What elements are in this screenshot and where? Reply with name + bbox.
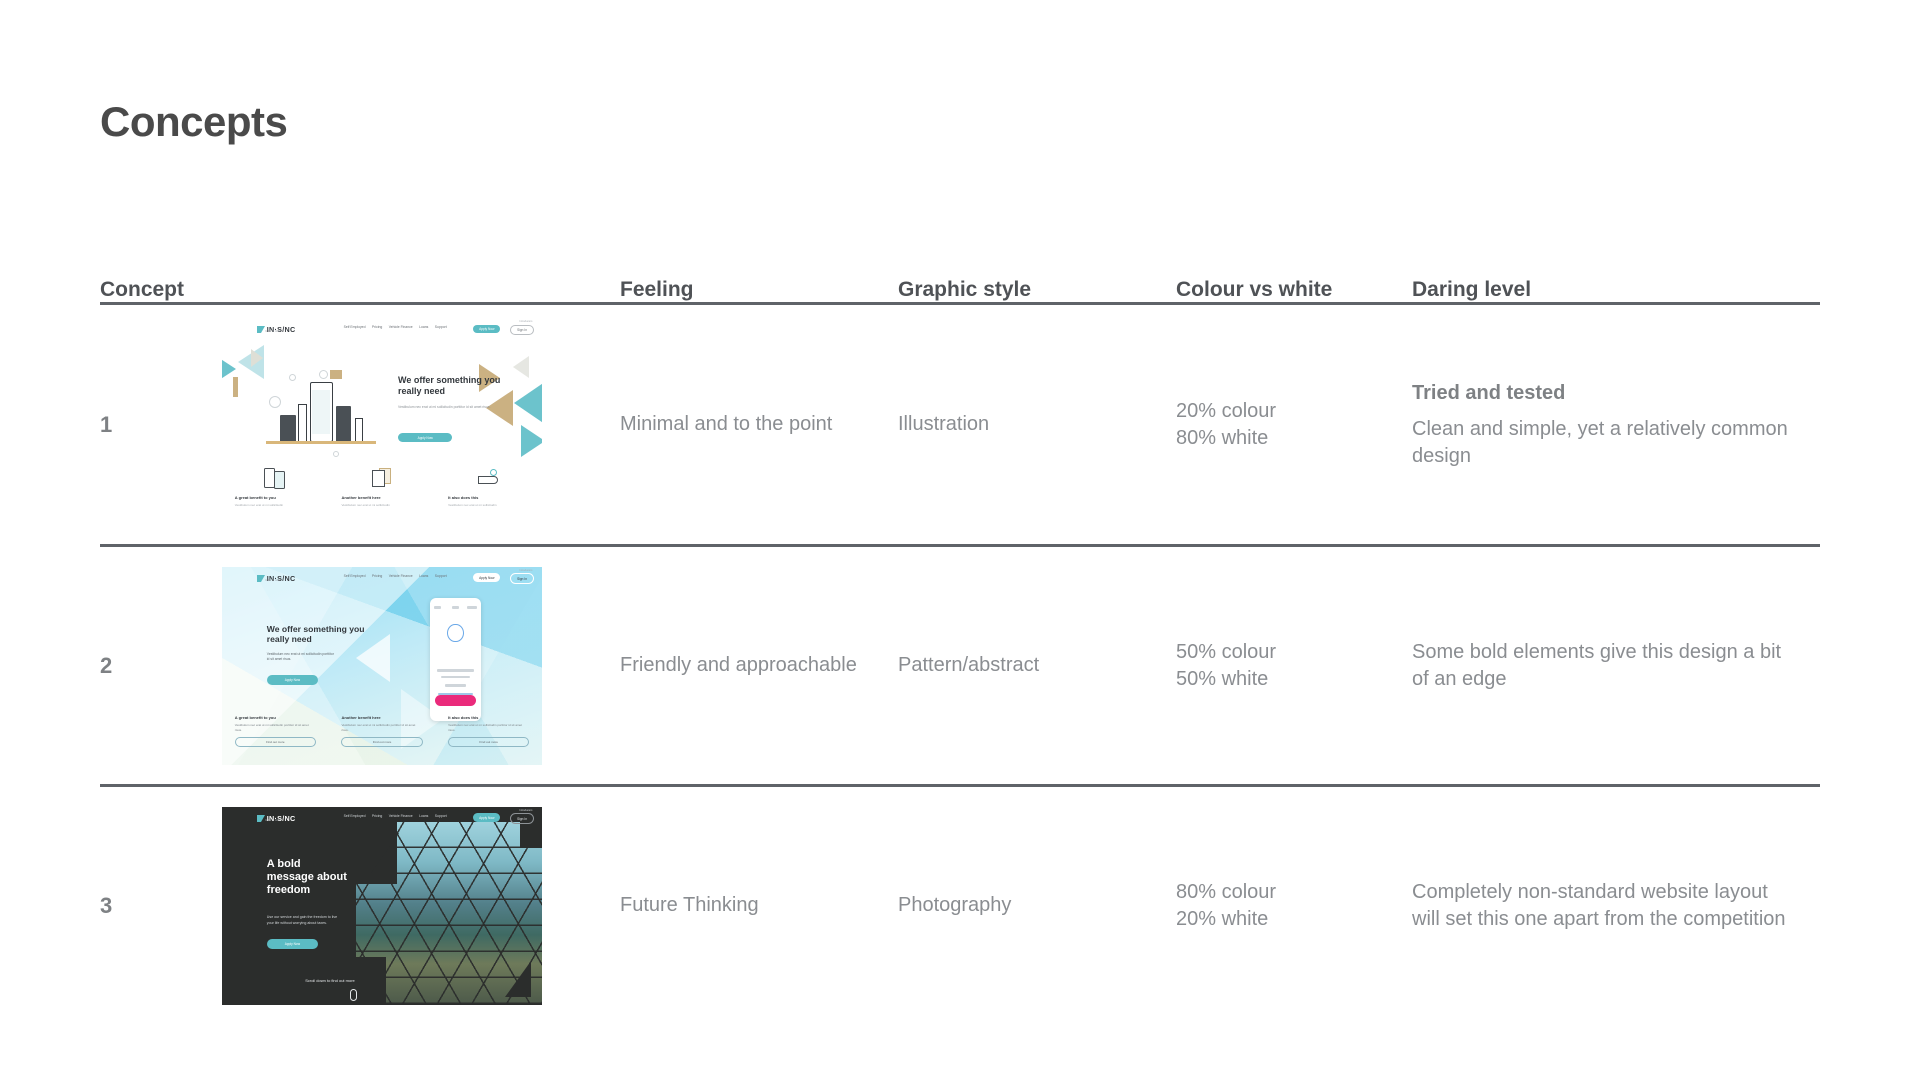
mockup-benefit-cards: A great benefit to you Vestibulum nec er… <box>222 468 542 508</box>
benefit-card[interactable]: Another benefit here Vestibulum nec erat… <box>329 715 436 747</box>
colour-vs-white-value: 20% colour 80% white <box>1176 398 1412 451</box>
mockup-nav-item[interactable]: Pricing <box>372 814 382 818</box>
benefit-card-link[interactable]: Find out more <box>235 737 316 747</box>
mockup-hero-heading: A bold message about freedom <box>267 858 350 898</box>
daring-level-body: Clean and simple, yet a relatively commo… <box>1412 416 1796 470</box>
mockup-nav-item[interactable]: Vehicle Finance <box>389 814 413 818</box>
mockup-nav-item[interactable]: Self Employed <box>344 814 366 818</box>
colour-pct-line: 50% colour <box>1176 639 1388 665</box>
logo-triangle-icon <box>257 815 265 822</box>
mockup-nav-item[interactable]: Loans <box>419 325 428 329</box>
phone-mockup <box>430 598 481 721</box>
mockup-logo-subtitle: GROUP <box>265 329 281 333</box>
mockup-nav-item[interactable]: Self Employed <box>344 574 366 578</box>
mockup-illustration <box>264 369 379 459</box>
concept-1-mockup[interactable]: Introducers IN·S/NC GROUP Self Employed … <box>222 317 542 532</box>
benefit-card[interactable]: Another benefit here Vestibulum nec erat… <box>329 468 436 508</box>
mockup-hero-body: Vestibulum nec erat ut mi sollicitudin p… <box>267 652 337 662</box>
benefit-card-heading: It also does this <box>448 715 529 720</box>
table-row: 1 <box>100 305 1820 544</box>
concept-2-mockup[interactable]: Introducers IN·S/NC GROUP Self Employed … <box>222 567 542 765</box>
mockup-navbar[interactable]: Introducers IN·S/NC GROUP Self Employed … <box>222 317 542 347</box>
building-icon <box>280 415 296 442</box>
mockup-introducers-label[interactable]: Introducers <box>519 569 532 572</box>
building-icon <box>336 406 351 442</box>
table-row: 2 Introducers IN·S/NC GROUP Self <box>100 547 1820 784</box>
mockup-sign-in-button[interactable]: Sign In <box>510 573 534 583</box>
graphic-style-value: Illustration <box>898 411 1176 437</box>
feeling-value: Future Thinking <box>620 892 898 918</box>
daring-level-value: Tried and tested Clean and simple, yet a… <box>1412 380 1820 470</box>
flag-icon <box>330 370 342 378</box>
mockup-hero-heading: We offer something you really need <box>267 624 376 645</box>
column-header-colour-vs-white: Colour vs white <box>1176 278 1412 302</box>
concept-3-mockup[interactable]: Introducers IN·S/NC GROUP Self Employed … <box>222 807 542 1005</box>
concepts-table: Concept Feeling Graphic style Colour vs … <box>100 250 1820 1024</box>
daring-level-body: Some bold elements give this design a bi… <box>1412 639 1796 693</box>
scroll-hint-label: Scroll down to find out more <box>305 978 355 983</box>
bar-decor-icon <box>233 377 238 397</box>
mockup-nav-item[interactable]: Pricing <box>372 574 382 578</box>
benefit-card-heading: It also does this <box>448 495 529 500</box>
benefit-card-link[interactable]: Find out more <box>341 737 422 747</box>
mockup-nav-item[interactable]: Support <box>435 325 447 329</box>
mockup-introducers-label[interactable]: Introducers <box>519 809 532 812</box>
column-header-graphic-style: Graphic style <box>898 278 1176 302</box>
shelf-line <box>266 441 377 444</box>
mockup-apply-now-button[interactable]: Apply Now <box>473 813 500 821</box>
mockup-logo-subtitle: GROUP <box>265 578 281 582</box>
mockup-nav-item[interactable]: Support <box>435 814 447 818</box>
benefit-card[interactable]: A great benefit to you Vestibulum nec er… <box>222 715 329 747</box>
triangle-decor-icon <box>521 425 542 457</box>
logo-triangle-icon <box>257 575 265 582</box>
mouse-scroll-icon <box>350 989 357 1001</box>
benefit-card[interactable]: It also does this Vestibulum nec erat ut… <box>435 715 542 747</box>
white-pct-line: 80% white <box>1176 425 1388 451</box>
colour-vs-white-value: 80% colour 20% white <box>1176 879 1412 932</box>
graphic-style-value: Photography <box>898 892 1176 918</box>
table-row: 3 <box>100 787 1820 1024</box>
circle-decor-icon <box>319 370 328 379</box>
mockup-apply-now-button[interactable]: Apply Now <box>473 573 500 581</box>
graphic-style-value: Pattern/abstract <box>898 652 1176 678</box>
triangle-photo-mosaic <box>356 822 542 1004</box>
row-number: 1 <box>100 410 222 439</box>
benefit-card-heading: Another benefit here <box>341 715 422 720</box>
phone-cta-button <box>435 695 476 706</box>
daring-level-value: Completely non-standard website layout w… <box>1412 879 1820 933</box>
building-icon <box>298 404 307 442</box>
daring-level-value: Some bold elements give this design a bi… <box>1412 639 1820 693</box>
mockup-benefit-cards: A great benefit to you Vestibulum nec er… <box>222 715 542 747</box>
benefit-card-body: Vestibulum nec erat ut mi sollicitudin p… <box>235 723 316 732</box>
mockup-hero-heading: We offer something you really need <box>398 375 526 397</box>
feeling-value: Minimal and to the point <box>620 411 898 437</box>
mockup-nav-item[interactable]: Support <box>435 574 447 578</box>
phone-screen <box>312 390 330 434</box>
benefit-card-link[interactable]: Find out more <box>448 737 529 747</box>
daring-level-body: Completely non-standard website layout w… <box>1412 879 1796 933</box>
progress-ring-icon <box>447 624 463 642</box>
benefit-card-heading: A great benefit to you <box>235 715 316 720</box>
mockup-apply-now-button[interactable]: Apply Now <box>473 325 500 333</box>
circle-decor-icon <box>289 374 296 381</box>
slide-canvas: Concepts Concept Feeling Graphic style C… <box>0 0 1920 1080</box>
mockup-introducers-label[interactable]: Introducers <box>519 320 532 323</box>
benefit-card-body: Vestibulum nec erat ut mi sollicitudin p… <box>341 723 422 732</box>
benefit-card-heading: Another benefit here <box>341 495 422 500</box>
colour-pct-line: 20% colour <box>1176 398 1388 424</box>
concept-thumbnail-cell[interactable]: Introducers IN·S/NC GROUP Self Employed … <box>222 807 620 1005</box>
benefit-card-body: Vestibulum nec erat ut mi sollicitudin <box>235 503 316 508</box>
mockup-hero-cta-button[interactable]: Apply Now <box>267 675 318 684</box>
mockup-hero-body: Use our service and gain the freedom to … <box>267 915 337 925</box>
feeling-value: Friendly and approachable <box>620 652 898 678</box>
concept-thumbnail-cell[interactable]: Introducers IN·S/NC GROUP Self Employed … <box>222 567 620 765</box>
mockup-nav-item[interactable]: Self Employed <box>344 325 366 329</box>
logo-triangle-icon <box>257 326 265 333</box>
colour-pct-line: 80% colour <box>1176 879 1388 905</box>
building-icon <box>355 418 363 441</box>
row-number: 2 <box>100 651 222 680</box>
colour-vs-white-value: 50% colour 50% white <box>1176 639 1412 692</box>
mockup-sign-in-button[interactable]: Sign In <box>510 813 534 823</box>
column-header-concept: Concept <box>100 278 222 302</box>
mockup-nav-item[interactable]: Vehicle Finance <box>389 325 413 329</box>
mockup-nav-item[interactable]: Pricing <box>372 325 382 329</box>
mockup-nav-item[interactable]: Loans <box>419 574 428 578</box>
circle-decor-icon <box>269 396 281 408</box>
mockup-nav-item[interactable]: Loans <box>419 814 428 818</box>
mockup-hero-cta-button[interactable]: Apply Now <box>267 939 318 949</box>
benefit-card[interactable]: A great benefit to you Vestibulum nec er… <box>222 468 329 508</box>
white-pct-line: 50% white <box>1176 666 1388 692</box>
column-header-feeling: Feeling <box>620 278 898 302</box>
concept-thumbnail-cell[interactable]: Introducers IN·S/NC GROUP Self Employed … <box>222 317 620 532</box>
mockup-hero-body: Vestibulum nec erat ut mi sollicitudin p… <box>398 405 494 410</box>
benefit-card-body: Vestibulum nec erat ut mi sollicitudin p… <box>448 723 529 732</box>
mockup-sign-in-button[interactable]: Sign In <box>510 325 534 335</box>
calculator-icon <box>369 468 395 490</box>
table-header-row: Concept Feeling Graphic style Colour vs … <box>100 250 1820 302</box>
benefit-card-body: Vestibulum nec erat ut mi sollicitudin <box>341 503 422 508</box>
mockup-logo-subtitle: GROUP <box>265 818 281 822</box>
page-title: Concepts <box>100 98 287 146</box>
phones-icon <box>262 468 288 490</box>
benefit-card[interactable]: It also does this Vestibulum nec erat ut… <box>435 468 542 508</box>
triangle-decor-icon <box>251 349 263 367</box>
phone-icon <box>310 382 333 442</box>
mockup-navbar[interactable]: Introducers IN·S/NC GROUP Self Employed … <box>222 807 542 835</box>
column-header-daring-level: Daring level <box>1412 278 1820 302</box>
benefit-card-heading: A great benefit to you <box>235 495 316 500</box>
mockup-nav-item[interactable]: Vehicle Finance <box>389 574 413 578</box>
daring-level-title: Tried and tested <box>1412 380 1796 406</box>
benefit-card-body: Vestibulum nec erat ut mi sollicitudin <box>448 503 529 508</box>
mockup-navbar[interactable]: Introducers IN·S/NC GROUP Self Employed … <box>222 567 542 595</box>
circle-decor-icon <box>333 451 339 457</box>
white-pct-line: 20% white <box>1176 906 1388 932</box>
row-number: 3 <box>100 891 222 920</box>
mockup-hero-cta-button[interactable]: Apply Now <box>398 433 452 442</box>
hand-coin-icon <box>476 468 502 490</box>
